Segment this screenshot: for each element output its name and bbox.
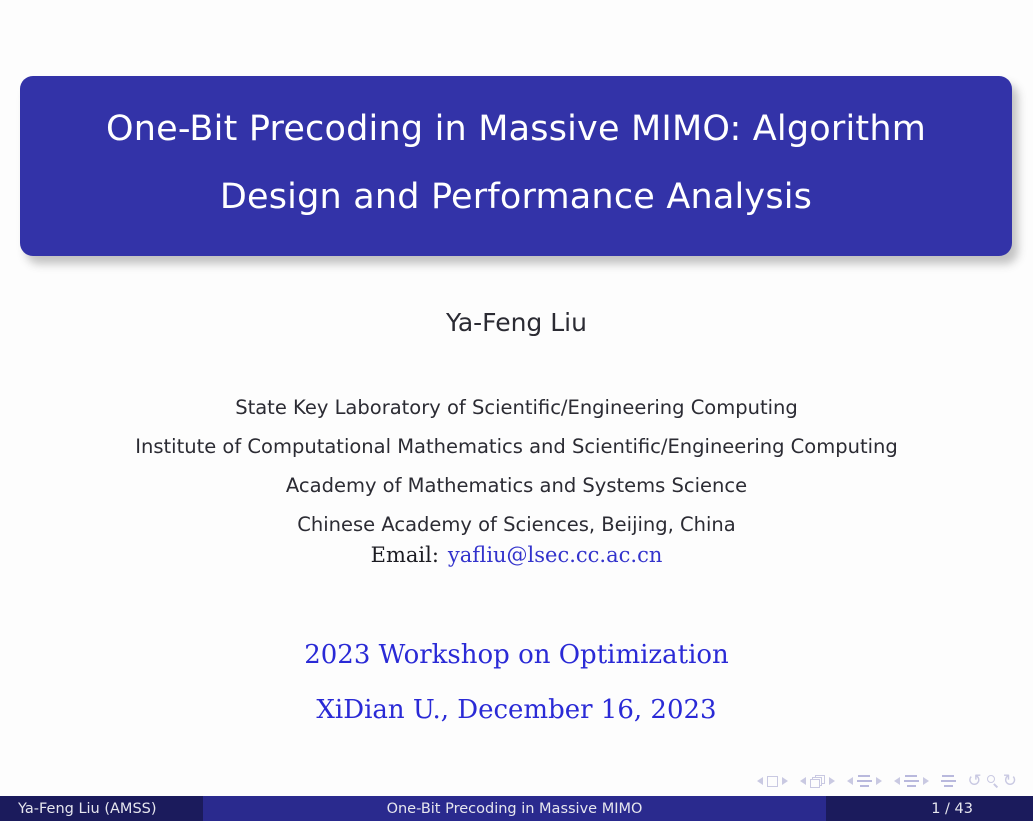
author-name: Ya-Feng Liu <box>0 308 1033 337</box>
venue-line-workshop: 2023 Workshop on Optimization <box>0 628 1033 683</box>
venue-block: 2023 Workshop on Optimization XiDian U.,… <box>0 628 1033 738</box>
next-slide-arrow-icon[interactable] <box>782 777 788 785</box>
document-navigation-group <box>941 775 956 788</box>
slide-footer: Ya-Feng Liu (AMSS) One-Bit Precoding in … <box>0 796 1033 821</box>
presentation-slide: One-Bit Precoding in Massive MIMO: Algor… <box>0 0 1033 821</box>
back-curve-icon[interactable]: ↺ <box>968 773 982 790</box>
slide-icon[interactable] <box>767 776 778 787</box>
slide-navigation-group <box>757 776 788 787</box>
section-navigation-group <box>894 775 929 788</box>
previous-slide-arrow-icon[interactable] <box>757 777 763 785</box>
next-frame-arrow-icon[interactable] <box>829 777 835 785</box>
search-magnifier-icon[interactable] <box>986 774 999 788</box>
affiliation-line: State Key Laboratory of Scientific/Engin… <box>0 388 1033 427</box>
previous-section-arrow-icon[interactable] <box>894 777 900 785</box>
frame-icon[interactable] <box>810 775 825 788</box>
email-line: Email:yafliu@lsec.cc.ac.cn <box>0 543 1033 567</box>
history-navigation-group: ↺ ↻ <box>968 773 1018 790</box>
beamer-navigation-symbols: ↺ ↻ <box>757 770 1018 792</box>
next-subsection-arrow-icon[interactable] <box>876 777 882 785</box>
footer-author: Ya-Feng Liu (AMSS) <box>0 796 203 821</box>
footer-page-number: 1 / 43 <box>826 796 1033 821</box>
subsection-navigation-group <box>847 775 882 788</box>
section-bars-icon[interactable] <box>904 775 919 788</box>
affiliation-block: State Key Laboratory of Scientific/Engin… <box>0 388 1033 544</box>
next-section-arrow-icon[interactable] <box>923 777 929 785</box>
forward-curve-icon[interactable]: ↻ <box>1003 773 1017 790</box>
affiliation-line: Chinese Academy of Sciences, Beijing, Ch… <box>0 505 1033 544</box>
email-label: Email: <box>371 543 439 567</box>
document-bars-icon[interactable] <box>941 775 956 788</box>
previous-frame-arrow-icon[interactable] <box>800 777 806 785</box>
title-line-2: Design and Performance Analysis <box>220 180 812 215</box>
subsection-bars-icon[interactable] <box>857 775 872 788</box>
affiliation-line: Institute of Computational Mathematics a… <box>0 427 1033 466</box>
footer-title: One-Bit Precoding in Massive MIMO <box>203 796 826 821</box>
previous-subsection-arrow-icon[interactable] <box>847 777 853 785</box>
venue-line-location-date: XiDian U., December 16, 2023 <box>0 683 1033 738</box>
email-address-link[interactable]: yafliu@lsec.cc.ac.cn <box>448 543 662 567</box>
title-banner: One-Bit Precoding in Massive MIMO: Algor… <box>20 76 1012 256</box>
affiliation-line: Academy of Mathematics and Systems Scien… <box>0 466 1033 505</box>
title-line-1: One-Bit Precoding in Massive MIMO: Algor… <box>106 112 926 147</box>
frame-navigation-group <box>800 775 835 788</box>
